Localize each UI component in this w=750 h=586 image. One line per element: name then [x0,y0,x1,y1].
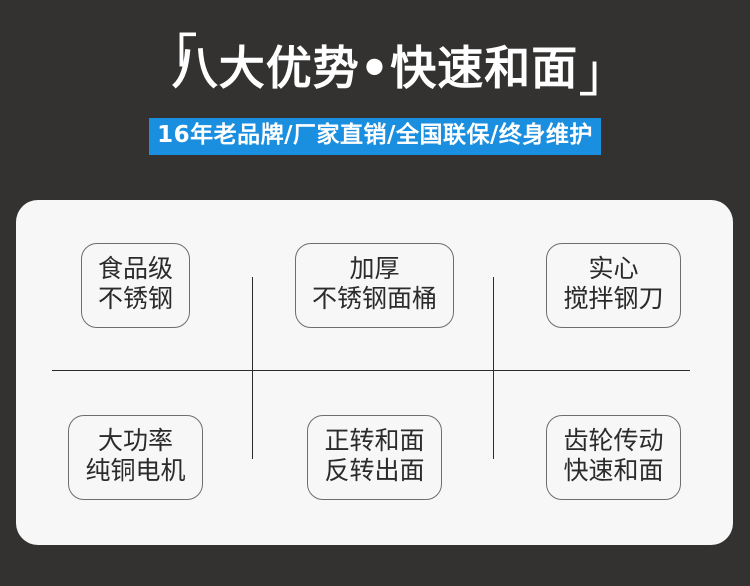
feature-1-line-1: 食品级 [98,254,173,285]
feature-3-line-1: 实心 [563,254,663,285]
feature-4-line-2: 纯铜电机 [85,456,185,487]
feature-cell-6: 齿轮传动 快速和面 [494,372,733,542]
feature-box-1: 食品级 不锈钢 [81,243,190,328]
horizontal-divider [52,370,690,371]
feature-1-line-2: 不锈钢 [98,284,173,315]
title-row: 「 八大优势•快速和面 」 [0,32,750,104]
feature-cell-1: 食品级 不锈钢 [16,200,255,370]
feature-2-line-2: 不锈钢面桶 [312,284,437,315]
feature-cell-2: 加厚 不锈钢面桶 [255,200,494,370]
features-grid: 食品级 不锈钢 加厚 不锈钢面桶 实心 搅拌钢刀 大功率 纯铜 [16,200,733,545]
feature-box-5: 正转和面 反转出面 [307,415,441,500]
feature-3-line-2: 搅拌钢刀 [563,284,663,315]
subtitle-badge: 16年老品牌/厂家直销/全国联保/终身维护 [149,118,601,155]
feature-5-line-1: 正转和面 [324,426,424,457]
feature-2-line-1: 加厚 [312,254,437,285]
promo-banner-page: 「 八大优势•快速和面 」 16年老品牌/厂家直销/全国联保/终身维护 食品级 … [0,0,750,586]
subtitle-row: 16年老品牌/厂家直销/全国联保/终身维护 [0,118,750,155]
feature-cell-4: 大功率 纯铜电机 [16,372,255,542]
feature-4-line-1: 大功率 [85,426,185,457]
feature-5-line-2: 反转出面 [324,456,424,487]
feature-6-line-1: 齿轮传动 [563,426,663,457]
close-corner-bracket: 」 [578,48,604,100]
feature-cell-5: 正转和面 反转出面 [255,372,494,542]
page-header: 「 八大优势•快速和面 」 16年老品牌/厂家直销/全国联保/终身维护 [0,0,750,185]
feature-box-4: 大功率 纯铜电机 [68,415,202,500]
page-title: 八大优势•快速和面 [172,44,578,92]
feature-box-2: 加厚 不锈钢面桶 [295,243,454,328]
features-panel: 食品级 不锈钢 加厚 不锈钢面桶 实心 搅拌钢刀 大功率 纯铜 [16,200,733,545]
feature-cell-3: 实心 搅拌钢刀 [494,200,733,370]
open-corner-bracket: 「 [146,34,172,86]
feature-box-3: 实心 搅拌钢刀 [546,243,680,328]
feature-6-line-2: 快速和面 [563,456,663,487]
feature-box-6: 齿轮传动 快速和面 [546,415,680,500]
